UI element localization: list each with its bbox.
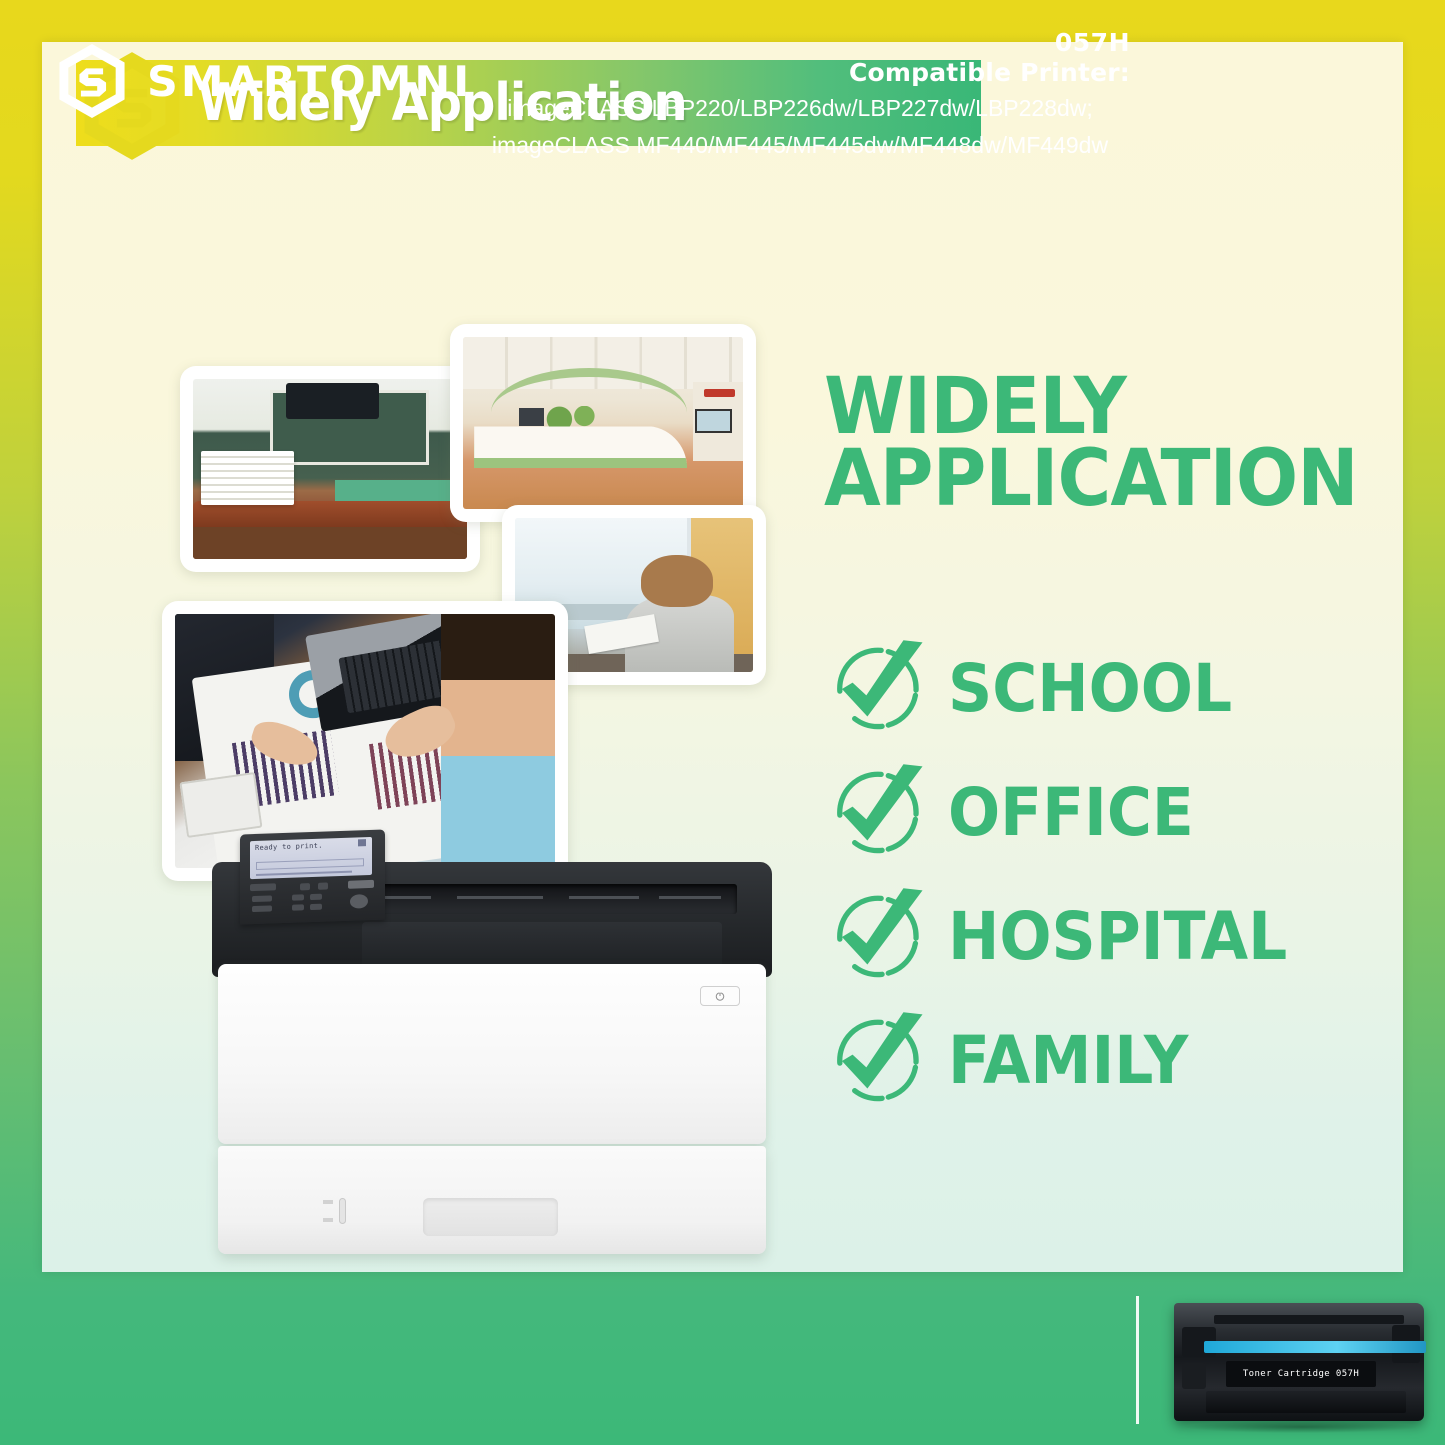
brand-name: SMARTOMNI	[147, 57, 472, 106]
printer-lcd-progress	[256, 858, 364, 870]
cartridge-label-text: Toner Cartridge 057H	[1243, 1369, 1359, 1379]
check-stamp-icon	[824, 636, 932, 742]
printer-nav-up-button[interactable]	[300, 883, 310, 890]
printer-ok-button[interactable]	[348, 880, 374, 889]
printer-home-button[interactable]	[252, 905, 272, 912]
compatibility-block: 057H Compatible Printer: imageCLASS LBP2…	[470, 28, 1130, 161]
checklist-label-family: FAMILY	[948, 1028, 1188, 1094]
headline-block: WIDELY APPLICATION	[824, 372, 1403, 516]
printer-numeric-4[interactable]	[310, 904, 322, 910]
checklist-item-office: OFFICE	[824, 751, 1403, 875]
checklist-item-hospital: HOSPITAL	[824, 875, 1403, 999]
woman-hair	[641, 555, 712, 607]
classroom-floor	[193, 527, 467, 559]
headline-line-2: APPLICATION	[824, 444, 1388, 516]
hexagon-s-logo-icon	[55, 42, 129, 120]
printer-control-panel[interactable]: Ready to print.	[240, 829, 385, 924]
printer-numeric-1[interactable]	[292, 894, 304, 900]
printer-nav-down-button[interactable]	[318, 882, 328, 889]
calculator	[179, 772, 262, 838]
printer-menu-button[interactable]	[250, 883, 276, 891]
printer-numeric-2[interactable]	[310, 894, 322, 900]
compatible-printer-label: Compatible Printer:	[470, 58, 1130, 88]
reception-plants	[536, 406, 614, 428]
wooden-desk	[193, 501, 467, 526]
checklist-label-school: SCHOOL	[948, 656, 1232, 722]
printer-output-slot	[347, 884, 737, 914]
photo-collage	[162, 320, 787, 900]
printer-tray-handle[interactable]	[423, 1198, 558, 1236]
checklist-label-office: OFFICE	[948, 780, 1194, 846]
cartridge-body: Toner Cartridge 057H	[1174, 1303, 1424, 1421]
printer-lcd-screen: Ready to print.	[250, 837, 372, 879]
reception-desk	[474, 426, 687, 467]
check-stamp-icon	[824, 884, 932, 990]
printer-front-body	[218, 964, 766, 1144]
printer-power-button[interactable]	[700, 986, 740, 1006]
cartridge-bottom-edge	[1206, 1391, 1406, 1413]
printer-back-button[interactable]	[252, 895, 272, 902]
cartridge-blue-strip	[1204, 1341, 1426, 1353]
info-display	[695, 409, 731, 433]
laser-printer: Ready to print.	[212, 832, 772, 1257]
printer-lcd-text: Ready to print.	[255, 840, 372, 852]
reception-monitor	[519, 408, 544, 427]
check-stamp-icon	[824, 1008, 932, 1114]
checklist-item-family: FAMILY	[824, 999, 1403, 1123]
cartridge-label: Toner Cartridge 057H	[1226, 1361, 1376, 1387]
wall-monitor	[286, 383, 379, 419]
content-panel: Ready to print.	[42, 42, 1403, 1272]
printer-paper-level-indicator	[323, 1198, 353, 1232]
power-icon	[714, 990, 726, 1002]
application-checklist: SCHOOL OFFICE HOSPITAL	[824, 627, 1403, 1123]
classroom-photo	[193, 379, 467, 559]
printer-numeric-3[interactable]	[292, 904, 304, 910]
check-stamp-icon	[824, 760, 932, 866]
compatible-models-line-2: imageCLASS MF440/MF445/MF445dw/MF448dw/M…	[470, 130, 1130, 161]
seated-person	[441, 614, 555, 868]
compatible-models-line-1: imageCLASS LBP220/LBP226dw/LBP227dw/LBP2…	[470, 93, 1130, 124]
printer-button-cluster[interactable]	[248, 880, 378, 921]
cartridge-left-tab	[1182, 1363, 1206, 1389]
hospital-photo	[463, 337, 743, 509]
classroom-photo-card	[180, 366, 480, 572]
cartridge-top-ridge	[1214, 1315, 1404, 1324]
cartridge-shadow	[1186, 1421, 1416, 1433]
brand-lockup: SMARTOMNI	[55, 42, 466, 120]
hospital-photo-card	[450, 324, 756, 522]
exit-sign	[704, 389, 735, 398]
checklist-label-hospital: HOSPITAL	[948, 904, 1287, 970]
printer-stop-button[interactable]	[350, 894, 368, 909]
printer-lcd-status-icon	[358, 839, 366, 846]
printer-paper-tray[interactable]	[218, 1146, 766, 1254]
paper-stack	[201, 451, 294, 505]
toner-cartridge-image: Toner Cartridge 057H	[1156, 1295, 1434, 1430]
cartridge-sku: 057H	[470, 28, 1130, 58]
printer-lcd-line	[256, 871, 352, 876]
footer-divider	[1136, 1296, 1139, 1424]
checklist-item-school: SCHOOL	[824, 627, 1403, 751]
